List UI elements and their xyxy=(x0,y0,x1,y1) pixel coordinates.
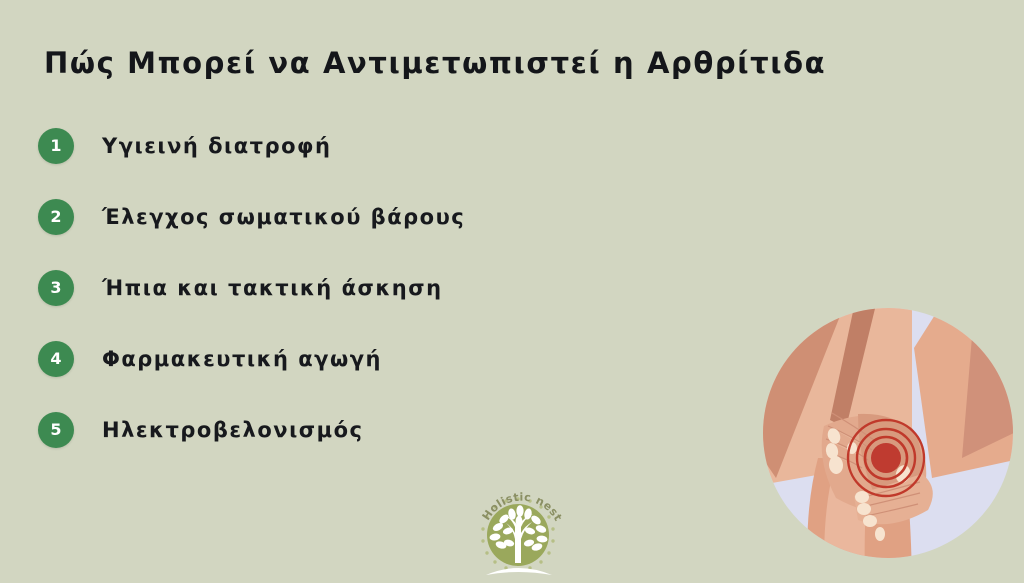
list-item: 3 Ήπια και τακτική άσκηση xyxy=(38,270,678,306)
list-item: 4 Φαρμακευτική αγωγή xyxy=(38,341,678,377)
pain-core xyxy=(871,443,901,473)
holistic-nest-logo: Holistic nest xyxy=(468,483,572,583)
list-item-label: Έλεγχος σωματικού βάρους xyxy=(102,205,465,229)
knee-pain-illustration xyxy=(762,308,1014,583)
slide-canvas: Πώς Μπορεί να Αντιμετωπιστεί η Αρθρίτιδα… xyxy=(0,0,1024,583)
list-item-number-badge: 4 xyxy=(38,341,74,377)
list-item-number-badge: 1 xyxy=(38,128,74,164)
list-item-number-badge: 3 xyxy=(38,270,74,306)
list-item-label: Ηλεκτροβελονισμός xyxy=(102,418,363,442)
list-item-number-badge: 5 xyxy=(38,412,74,448)
list-item-number-badge: 2 xyxy=(38,199,74,235)
list-item: 2 Έλεγχος σωματικού βάρους xyxy=(38,199,678,235)
logo-ground-swoosh xyxy=(486,568,552,575)
treatment-list: 1 Υγιεινή διατροφή 2 Έλεγχος σωματικού β… xyxy=(38,128,678,483)
page-title: Πώς Μπορεί να Αντιμετωπιστεί η Αρθρίτιδα xyxy=(44,46,904,81)
list-item: 5 Ηλεκτροβελονισμός xyxy=(38,412,678,448)
second-leg-shadow xyxy=(962,308,1014,458)
list-item-label: Ήπια και τακτική άσκηση xyxy=(102,276,443,300)
list-item-label: Υγιεινή διατροφή xyxy=(102,134,331,158)
list-item-label: Φαρμακευτική αγωγή xyxy=(102,347,382,371)
list-item: 1 Υγιεινή διατροφή xyxy=(38,128,678,164)
